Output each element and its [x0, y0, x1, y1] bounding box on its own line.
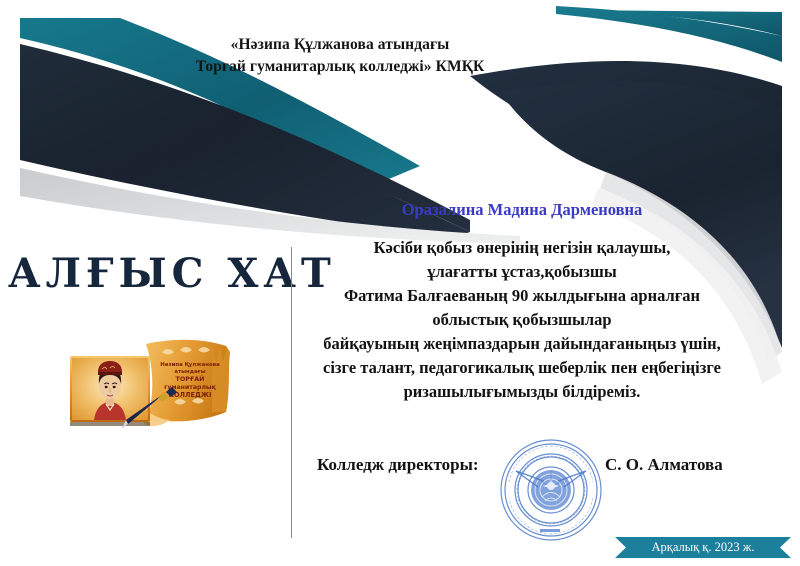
institution-header-line2: Торғай гуманитарлық колледжі» КМҚК: [140, 56, 540, 78]
institution-header-line1: «Нәзипа Құлжанова атындағы: [140, 34, 540, 56]
body-line-6: сізге талант, педагогикалық шеберлік пен…: [296, 356, 748, 380]
certificate-page: «Нәзипа Құлжанова атындағы Торғай гумани…: [0, 0, 800, 566]
body-line-7: ризашылығымызды білдіреміз.: [296, 380, 748, 404]
body-line-2: ұлағатты ұстаз,қобызшы: [296, 260, 748, 284]
signature-label: Колледж директоры:: [317, 455, 479, 475]
body-line-4: облыстық қобызшылар: [296, 308, 748, 332]
college-logo: Нәзипа Құлжанова атындағы ТОРҒАЙ гуманит…: [62, 336, 252, 434]
svg-text:Нәзипа Құлжанова: Нәзипа Құлжанова: [160, 362, 220, 368]
page-title: АЛҒЫС ХАТ: [8, 254, 288, 294]
signatory-name: С. О. Алматова: [605, 455, 723, 475]
body-line-1: Кәсіби қобыз өнерінің негізін қалаушы,: [296, 236, 748, 260]
recipient-name: Оразалина Мадина Дарменовна: [296, 200, 748, 220]
body-line-3: Фатима Балғаеваның 90 жылдығына арналған: [296, 284, 748, 308]
certificate-body: Оразалина Мадина Дарменовна Кәсіби қобыз…: [296, 200, 748, 404]
ribbon-text: Арқалық қ. 2023 ж.: [615, 537, 791, 558]
svg-text:ТОРҒАЙ: ТОРҒАЙ: [175, 374, 204, 383]
official-seal-stamp: [498, 437, 604, 543]
vertical-divider: [291, 247, 292, 538]
institution-header: «Нәзипа Құлжанова атындағы Торғай гумани…: [140, 34, 540, 78]
body-line-5: байқауының жеңімпаздарын дайындағаныңыз …: [296, 332, 748, 356]
location-date-ribbon: Арқалық қ. 2023 ж.: [615, 537, 800, 558]
